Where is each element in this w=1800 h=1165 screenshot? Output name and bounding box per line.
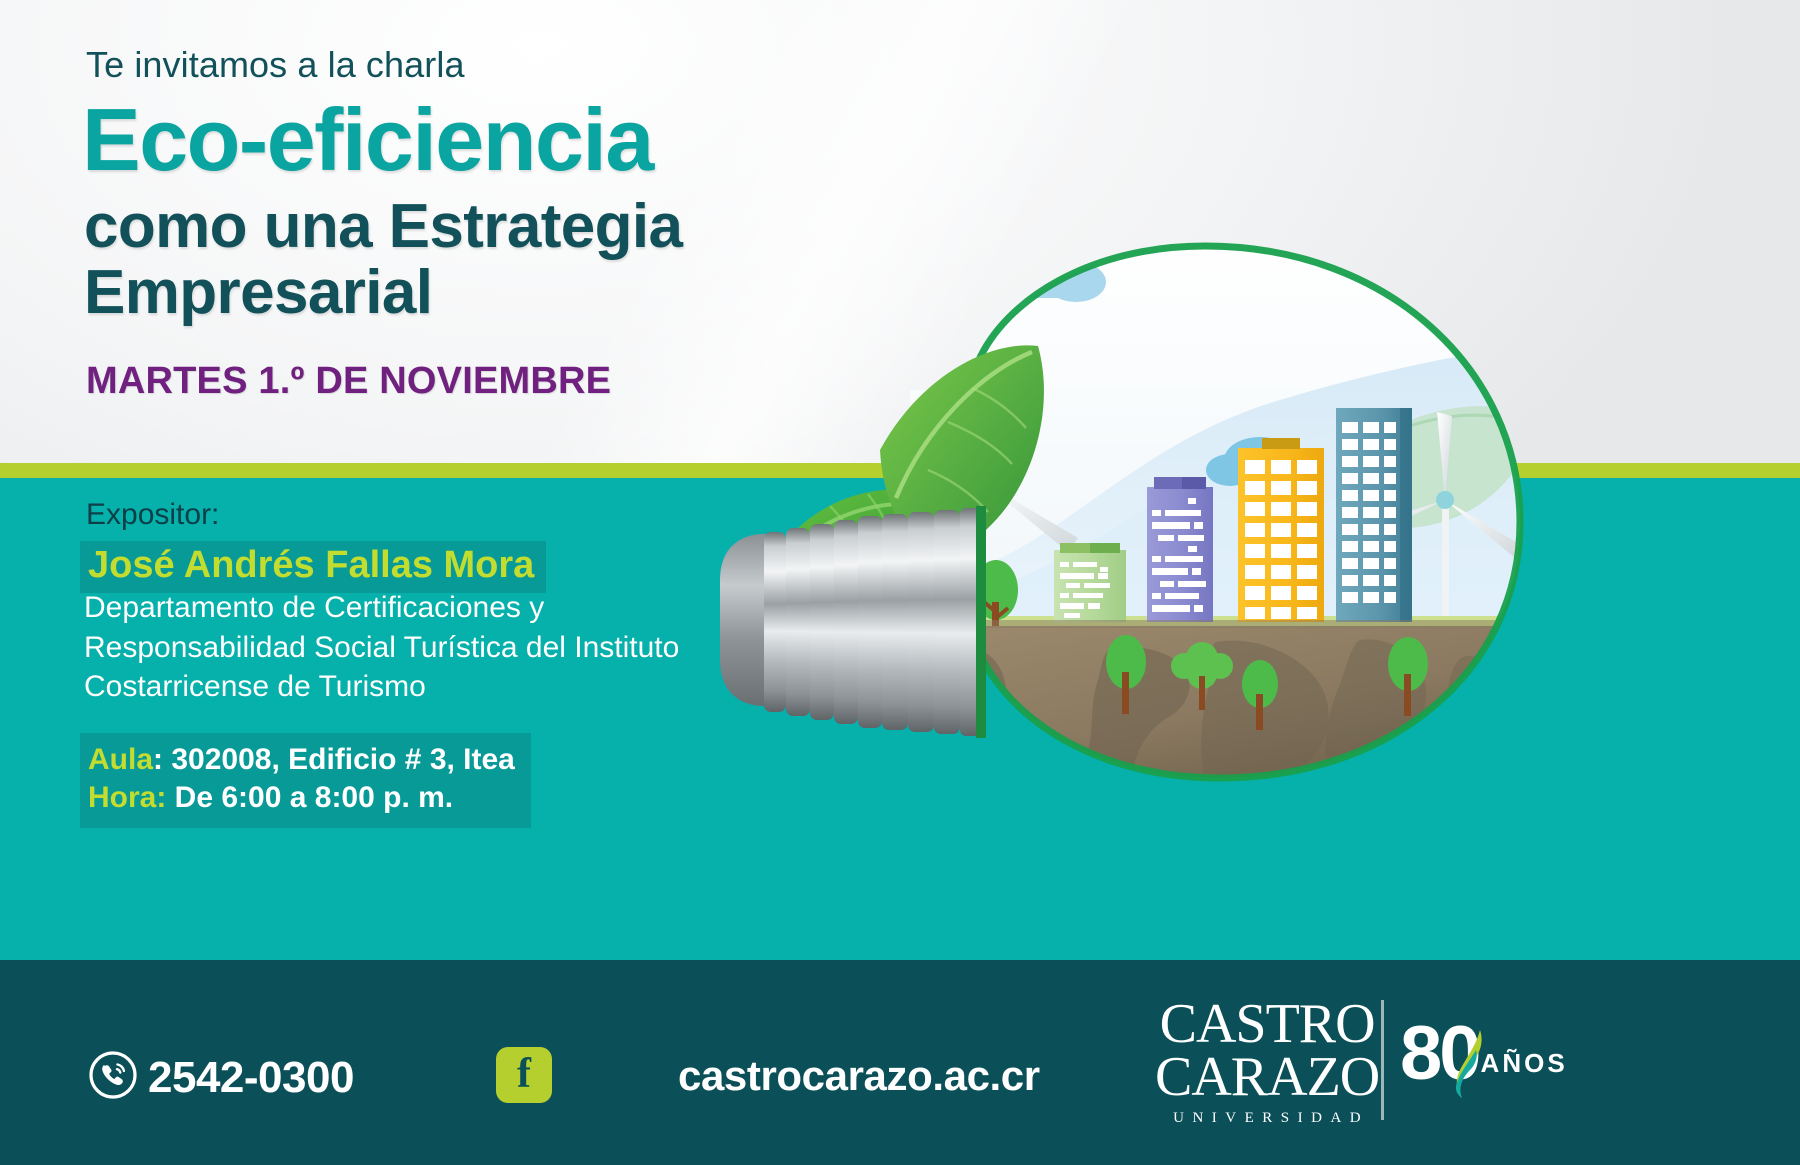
website-url[interactable]: castrocarazo.ac.cr [678, 1052, 1040, 1100]
poster: Te invitamos a la charla Eco-eficiencia … [0, 0, 1800, 1165]
leaf-swoosh-icon [1446, 1028, 1490, 1107]
subtitle-line-1: como una Estrategia [84, 194, 682, 260]
aula-key: Aula [88, 743, 153, 776]
affiliation-line-3: Costarricense de Turismo [84, 667, 679, 707]
castro-carazo-logo: CASTRO CARAZO UNIVERSIDAD [1155, 998, 1379, 1127]
detail-row-aula: Aula: 302008, Edificio # 3, Itea [88, 741, 515, 779]
anniversary-badge: 80 AÑOS [1400, 1020, 1568, 1088]
anniversary-word: AÑOS [1481, 1048, 1568, 1079]
logo-line-2: CARAZO [1155, 1051, 1379, 1104]
subtitle-line-2: Empresarial [84, 260, 682, 326]
detail-row-hora: Hora: De 6:00 a 8:00 p. m. [88, 779, 515, 817]
facebook-glyph: f [517, 1053, 531, 1095]
building-teal [1336, 408, 1412, 622]
aula-separator: : [153, 743, 171, 776]
phone-number: 2542-0300 [148, 1053, 354, 1103]
building-yellow [1238, 438, 1324, 622]
facebook-icon[interactable]: f [496, 1047, 552, 1103]
phone-contact[interactable]: 2542-0300 [88, 1050, 354, 1105]
event-details-box: Aula: 302008, Edificio # 3, Itea Hora: D… [80, 733, 531, 828]
speaker-name: José Andrés Fallas Mora [80, 541, 546, 593]
logo-line-3: UNIVERSIDAD [1163, 1110, 1379, 1127]
page-subtitle: como una Estrategia Empresarial [84, 194, 682, 325]
speaker-label: Expositor: [86, 498, 219, 532]
affiliation-line-1: Departamento de Certificaciones y [84, 588, 679, 628]
logo-divider [1381, 1000, 1384, 1120]
event-date: MARTES 1.º DE NOVIEMBRE [86, 360, 611, 403]
speaker-affiliation: Departamento de Certificaciones y Respon… [84, 588, 679, 707]
eco-lightbulb-illustration [660, 150, 1800, 790]
building-green [1054, 543, 1126, 622]
earth-globe [900, 620, 1540, 790]
page-title: Eco-eficiencia [82, 96, 653, 184]
hora-key: Hora: [88, 781, 166, 814]
logo-line-1: CASTRO [1155, 998, 1379, 1051]
kicker-text: Te invitamos a la charla [86, 44, 465, 86]
aula-value: 302008, Edificio # 3, Itea [171, 743, 515, 776]
hora-value: De 6:00 a 8:00 p. m. [166, 781, 453, 814]
phone-icon [88, 1050, 138, 1105]
affiliation-line-2: Responsabilidad Social Turística del Ins… [84, 628, 679, 668]
bulb-screw-base [720, 506, 986, 738]
building-purple [1147, 477, 1213, 622]
